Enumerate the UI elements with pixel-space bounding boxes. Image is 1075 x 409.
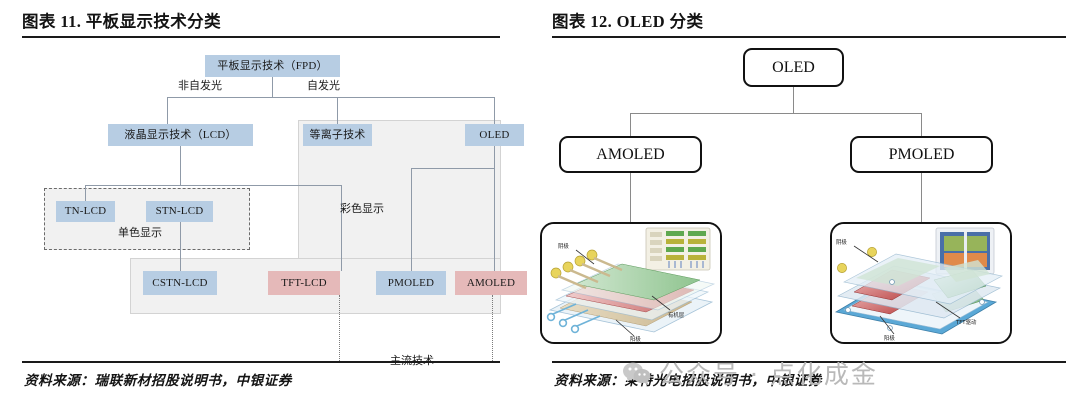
node-tft-lcd-label: TFT-LCD: [281, 278, 327, 289]
connector-oled-bus-r: [630, 113, 921, 114]
dotted-amoled-down: [492, 295, 493, 363]
node-oled-r[interactable]: OLED: [743, 48, 844, 87]
connector-lcd-bus-to-tft: [341, 185, 342, 271]
node-lcd[interactable]: 液晶显示技术（LCD）: [108, 124, 253, 146]
connector-bus-to-plasma: [337, 97, 338, 124]
node-stn-lcd-label: STN-LCD: [156, 206, 204, 217]
connector-oled-bus: [411, 168, 494, 169]
dotted-tft-down: [339, 295, 340, 363]
node-tft-lcd[interactable]: TFT-LCD: [268, 271, 340, 295]
node-lcd-label: 液晶显示技术（LCD）: [124, 130, 236, 141]
node-pmoled-r[interactable]: PMOLED: [850, 136, 993, 173]
node-fpd-label: 平板显示技术（FPD）: [217, 61, 327, 72]
pmoled-label-tft: TFT驱动: [955, 319, 977, 326]
node-amoled-r-label: AMOLED: [596, 147, 664, 163]
figure-12-top-rule: [552, 36, 1066, 38]
amoled-structure-svg: 阴极 有机层 阳极: [542, 224, 720, 342]
connector-lcd-bus: [85, 185, 341, 186]
node-plasma-label: 等离子技术: [310, 130, 366, 141]
pmoled-structure-illustration: 阴极 TFT驱动 阳极: [830, 222, 1012, 344]
label-self-emissive: 自发光: [307, 81, 340, 92]
node-plasma[interactable]: 等离子技术: [303, 124, 372, 146]
connector-bus-to-pmoled-r: [921, 113, 922, 136]
figure-11-title: 图表 11. 平板显示技术分类: [22, 8, 221, 32]
figure-11-source: 资料来源：瑞联新材招股说明书，中银证券: [24, 369, 292, 389]
node-pmoled[interactable]: PMOLED: [376, 271, 446, 295]
pmoled-structure-svg: 阴极 TFT驱动 阳极: [832, 224, 1010, 342]
node-amoled[interactable]: AMOLED: [455, 271, 527, 295]
node-oled[interactable]: OLED: [465, 124, 524, 146]
connector-oled-down-r: [793, 87, 794, 114]
fpd-classification-diagram: 平板显示技术（FPD） 液晶显示技术（LCD） 等离子技术 OLED TN-LC…: [0, 40, 522, 358]
connector-stn-to-cstn: [180, 221, 181, 271]
figure-11-top-rule: [22, 36, 500, 38]
node-oled-label: OLED: [479, 130, 509, 141]
figure-12-title: 图表 12. OLED 分类: [552, 8, 703, 32]
connector-fpd-bus: [167, 97, 495, 98]
node-stn-lcd[interactable]: STN-LCD: [146, 201, 213, 222]
connector-lcd-down: [180, 141, 181, 186]
node-amoled-r[interactable]: AMOLED: [559, 136, 702, 173]
node-tn-lcd[interactable]: TN-LCD: [56, 201, 115, 222]
figure-12-bottom-rule: [552, 361, 1066, 363]
node-pmoled-label: PMOLED: [388, 278, 434, 289]
figure-11-bottom-rule: [22, 361, 500, 363]
node-oled-r-label: OLED: [772, 60, 815, 76]
amoled-label-cathode: 阴极: [558, 242, 569, 250]
label-non-self-emissive: 非自发光: [178, 81, 222, 92]
figure-panel-left: 图表 11. 平板显示技术分类: [0, 0, 522, 409]
figure-12-source: 资料来源：莱特光电招股说明书，中银证券: [554, 369, 822, 389]
amoled-label-organic: 有机层: [668, 311, 685, 319]
connector-bus-to-oled: [494, 97, 495, 124]
connector-lcd-bus-to-tn: [85, 185, 86, 201]
pmoled-label-cathode: 阴极: [836, 238, 847, 246]
amoled-structure-illustration: 阴极 有机层 阳极: [540, 222, 722, 344]
connector-bus-to-lcd: [167, 97, 168, 124]
oled-classification-diagram: OLED AMOLED PMOLED: [530, 40, 1075, 358]
connector-oled-bus-to-amoled: [494, 168, 495, 271]
node-tn-lcd-label: TN-LCD: [65, 206, 107, 217]
connector-amoled-to-illus: [630, 172, 631, 222]
connector-pmoled-to-illus: [921, 172, 922, 222]
node-fpd[interactable]: 平板显示技术（FPD）: [205, 55, 340, 77]
pmoled-label-anode: 阳极: [884, 334, 895, 342]
connector-oled-bus-to-pmoled: [411, 168, 412, 271]
figure-panel-right: 图表 12. OLED 分类 OLED AMOLED PMOLED: [530, 0, 1075, 409]
connector-bus-to-amoled-r: [630, 113, 631, 136]
amoled-label-anode: 阳极: [630, 335, 641, 342]
node-pmoled-r-label: PMOLED: [889, 147, 955, 163]
connector-fpd-down: [272, 77, 273, 98]
node-amoled-label: AMOLED: [467, 278, 515, 289]
node-cstn-lcd-label: CSTN-LCD: [152, 278, 207, 289]
label-monochrome: 单色显示: [118, 228, 162, 239]
node-cstn-lcd[interactable]: CSTN-LCD: [143, 271, 217, 295]
label-color-display: 彩色显示: [340, 204, 384, 215]
page-root: 图表 11. 平板显示技术分类: [0, 0, 1075, 409]
